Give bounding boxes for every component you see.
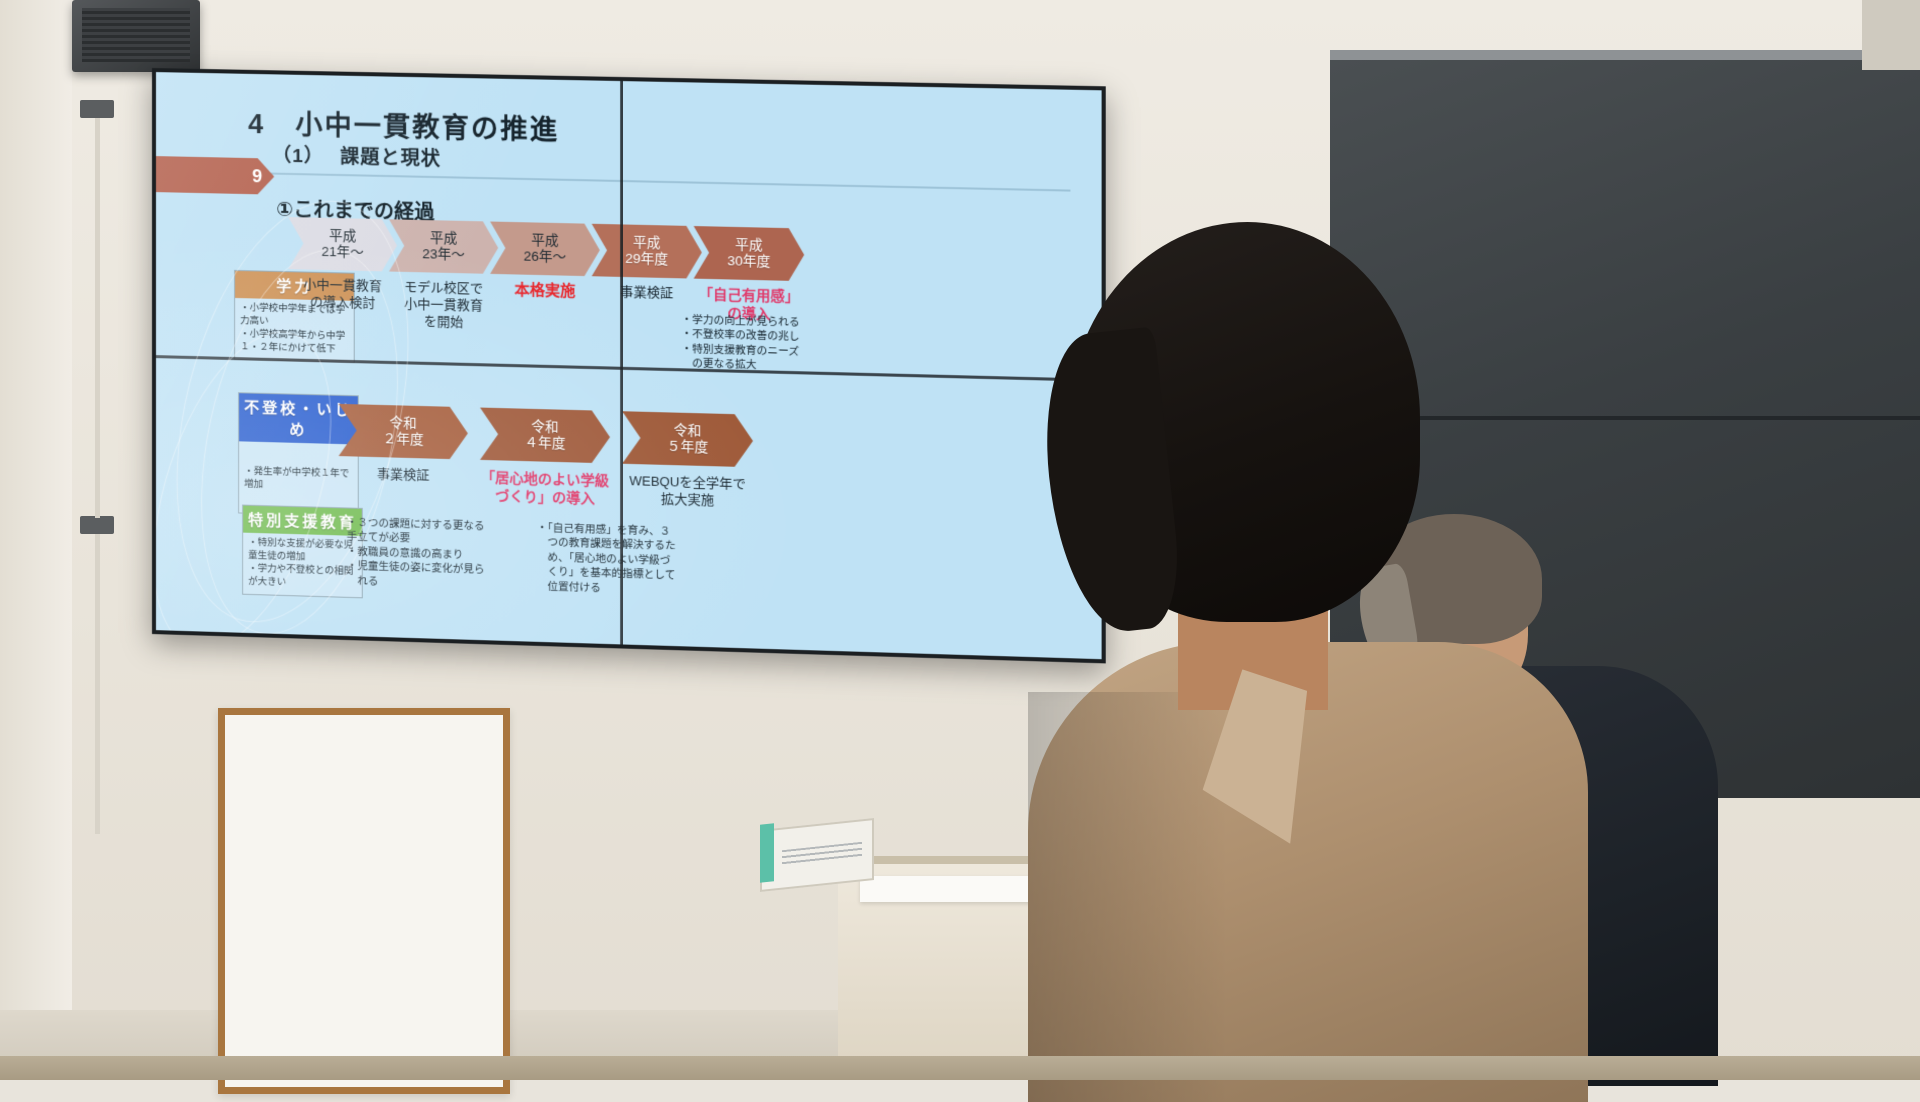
panel-seam-vertical — [620, 81, 623, 644]
slide-title-number: 4 — [248, 109, 265, 139]
chevron-year: ２年度 — [383, 431, 424, 448]
chevron-era: 令和 — [674, 423, 702, 440]
category-bullet: ・小学校高学年から中学１・２年にかけて低下 — [240, 328, 350, 356]
chevron-era: 平成 — [633, 235, 661, 252]
category-bullet: ・特別な支援が必要な児童生徒の増加 — [248, 537, 358, 565]
presentation-slide: 4小中一貫教育の推進 （1）課題と現状 9 ①これまでの経過 学力 ・小学校中学… — [156, 72, 1102, 659]
person-a-shadow — [1028, 692, 1228, 1102]
chevron-year: ５年度 — [667, 439, 708, 456]
wall-left-band — [0, 0, 72, 1080]
wall-right-strip — [1862, 0, 1920, 70]
timeline-chevron[interactable]: 令和 ５年度 — [622, 411, 753, 467]
timeline-notes-heisei: ・学力の向上が見られる ・不登校率の改善の兆し ・特別支援教育のニーズ の更なる… — [681, 313, 876, 376]
slide-subsection-text: 課題と現状 — [340, 147, 441, 170]
category-card-truancy-title: 不登校・いじめ — [239, 393, 358, 444]
timeline-chevron[interactable]: 令和 ２年度 — [339, 404, 468, 460]
wall-mount-upper — [80, 100, 114, 118]
chevron-year: 23年～ — [422, 246, 465, 263]
desk-nameplate-tab — [760, 823, 774, 882]
wall-conduit-upper — [95, 118, 100, 518]
title-divider — [264, 172, 1070, 191]
chevron-year: 21年～ — [321, 244, 363, 261]
chevron-era: 令和 — [390, 415, 417, 432]
room-scene: 4小中一貫教育の推進 （1）課題と現状 9 ①これまでの経過 学力 ・小学校中学… — [0, 0, 1920, 1080]
video-wall-display[interactable]: 4小中一貫教育の推進 （1）課題と現状 9 ①これまでの経過 学力 ・小学校中学… — [152, 68, 1106, 663]
category-bullet: ・学力や不登校との相関が大きい — [248, 563, 358, 591]
wall-conduit-lower — [95, 534, 100, 834]
timeline-chevron[interactable]: 平成 23年～ — [389, 219, 498, 274]
category-card-special-support-title: 特別支援教育 — [243, 506, 362, 536]
category-card-special-support-body: ・特別な支援が必要な児童生徒の増加 ・学力や不登校との相関が大きい — [243, 533, 362, 598]
chevron-era: 平成 — [735, 237, 763, 254]
timeline-caption: WEBQUを全学年で 拡大実施 — [604, 471, 772, 510]
chevron-era: 令和 — [531, 419, 558, 436]
chevron-year: 29年度 — [625, 251, 668, 268]
slide-page-number: 9 — [156, 156, 274, 195]
chevron-year: 30年度 — [727, 253, 770, 270]
chalkboard-trim — [1330, 50, 1920, 60]
foreground-desk-edge — [0, 1056, 1920, 1080]
timeline-notes-reiwa-right: ・「自己有用感」を育み、３ つの教育課題を解決するた め、「居心地のよい学級づ … — [537, 521, 718, 599]
chevron-year: ４年度 — [524, 435, 565, 452]
slide-subsection-marker: （1） — [272, 145, 324, 167]
category-card-special-support: 特別支援教育 ・特別な支援が必要な児童生徒の増加 ・学力や不登校との相関が大きい — [242, 505, 363, 599]
display-screen[interactable]: 4小中一貫教育の推進 （1）課題と現状 9 ①これまでの経過 学力 ・小学校中学… — [156, 72, 1102, 659]
speaker-grill-icon — [82, 8, 190, 62]
timeline-chevron[interactable]: 平成 30年度 — [694, 226, 805, 281]
person-foreground-tan-jacket — [1028, 222, 1588, 1080]
chevron-year: 26年～ — [524, 248, 567, 265]
timeline-chevron[interactable]: 平成 26年～ — [490, 222, 600, 277]
timeline-chevron[interactable]: 令和 ４年度 — [480, 408, 610, 464]
chevron-era: 平成 — [531, 233, 558, 250]
wall-mount-lower — [80, 516, 114, 534]
timeline-chevron[interactable]: 平成 21年～ — [288, 217, 397, 272]
slide-title-text: 小中一貫教育の推進 — [295, 110, 559, 146]
timeline-chevron[interactable]: 平成 29年度 — [592, 224, 702, 279]
slide-subsection: （1）課題と現状 — [272, 140, 441, 171]
wall-picture-frame — [218, 708, 510, 1094]
chevron-era: 平成 — [329, 228, 356, 245]
chevron-era: 平成 — [430, 230, 457, 247]
timeline-notes-reiwa-left: ・３つの課題に対する更なる 手立てが必要 ・教職員の意識の高まり ・児童生徒の姿… — [347, 516, 524, 594]
